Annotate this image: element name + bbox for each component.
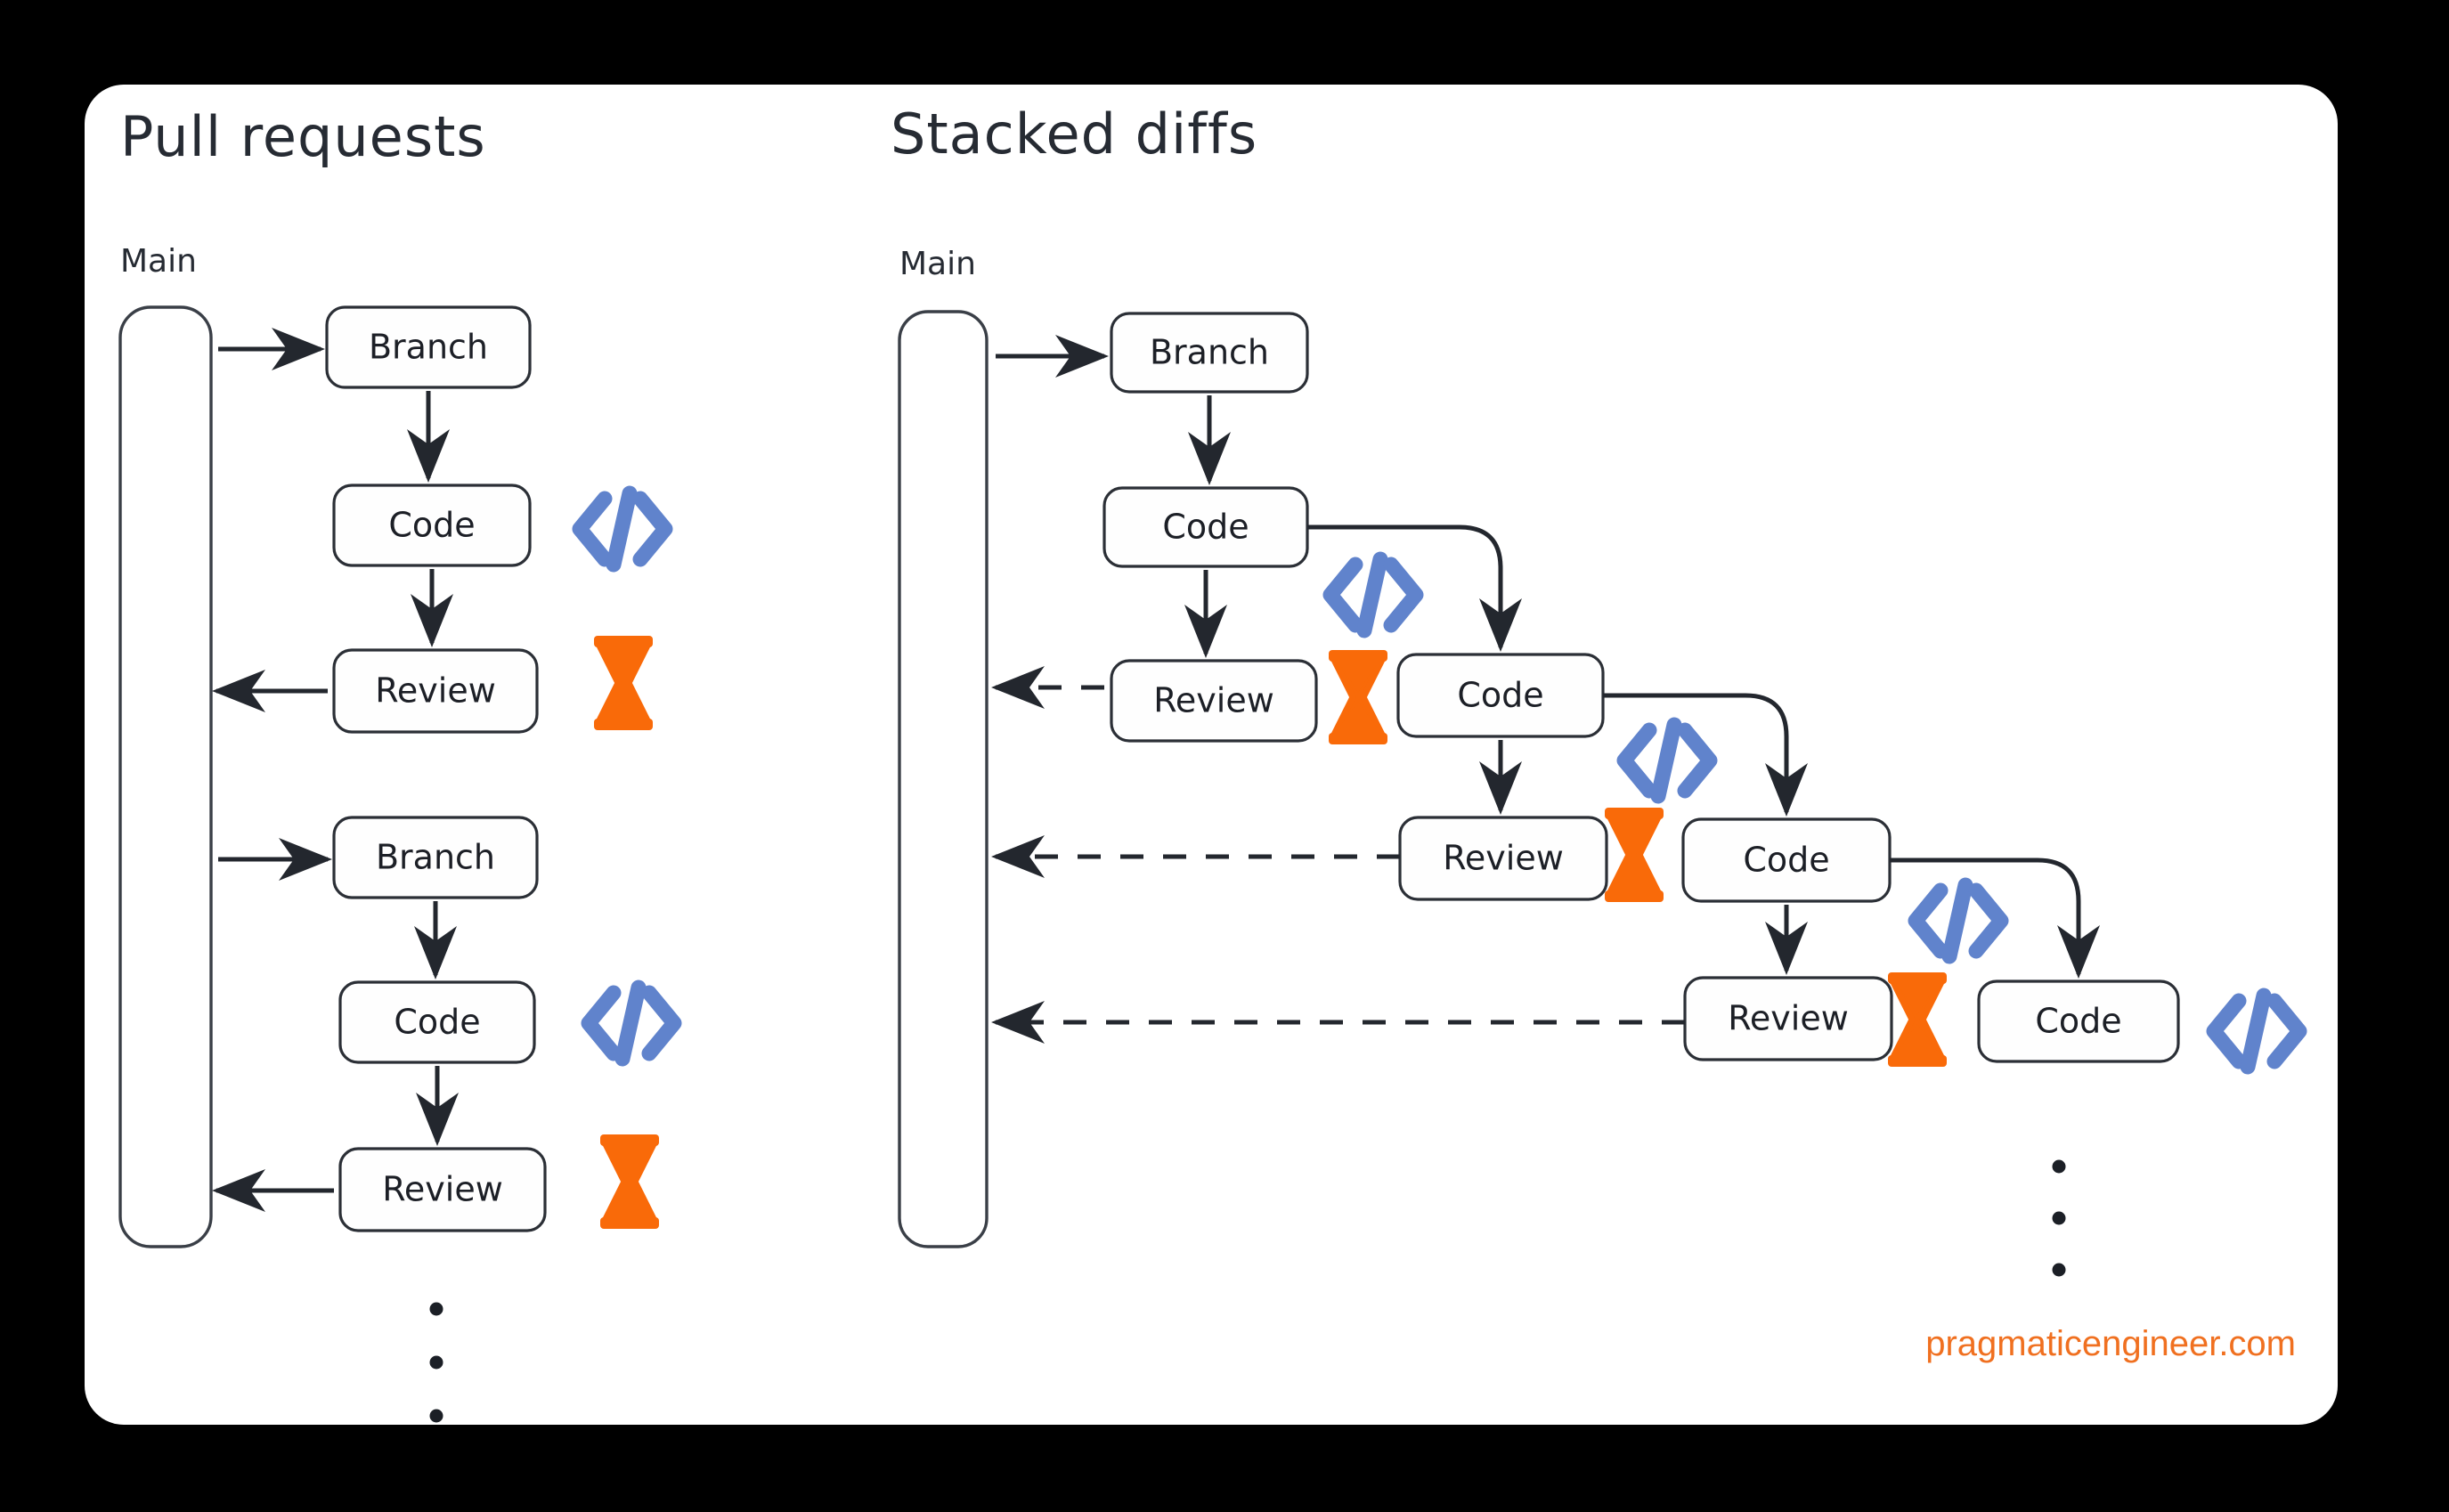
right-main-label: Main <box>899 246 976 282</box>
right-code-node-2-label: Code <box>1743 841 1829 880</box>
left-main-label: Main <box>120 243 197 280</box>
right-ellipsis-dot-1 <box>2053 1212 2066 1225</box>
left-review-node-1-label: Review <box>382 1170 503 1209</box>
left-branch-node-0-label: Branch <box>369 328 488 367</box>
right-code-brackets-icon-2 <box>1916 885 2001 956</box>
right-hourglass-icon-0 <box>1329 650 1387 744</box>
right-review-node-2-label: Review <box>1728 999 1849 1038</box>
left-code-node-0-label: Code <box>388 506 475 545</box>
left-hourglass-icon-1 <box>600 1134 659 1229</box>
left-main-trunk <box>120 307 211 1247</box>
left-ellipsis-dot-2 <box>430 1410 443 1423</box>
left-panel-title: Pull requests <box>120 104 486 169</box>
left-hourglass-icon-0 <box>594 636 653 730</box>
right-code-node-3-label: Code <box>2035 1002 2121 1041</box>
left-code-brackets-icon-0 <box>580 493 665 565</box>
left-code-brackets-icon-1 <box>589 988 674 1059</box>
right-review-node-1-label: Review <box>1443 839 1564 878</box>
right-code-brackets-icon-1 <box>1624 725 1710 796</box>
right-code-brackets-icon-3 <box>2214 996 2299 1067</box>
right-branch-node-label: Branch <box>1150 333 1269 372</box>
right-code-node-1-label: Code <box>1457 676 1543 715</box>
right-review-node-0-label: Review <box>1153 681 1274 720</box>
left-ellipsis-dot-1 <box>430 1356 443 1370</box>
left-review-node-0-label: Review <box>375 671 496 711</box>
stacked-diffs-diagram: Pull requestsMainBranchCodeReviewBranchC… <box>0 0 2449 1512</box>
left-ellipsis-dot-0 <box>430 1303 443 1316</box>
right-code-brackets-icon-0 <box>1330 559 1416 630</box>
right-ellipsis-dot-2 <box>2053 1264 2066 1277</box>
right-code-node-0-label: Code <box>1162 508 1249 547</box>
screenshot-stage: Pull requestsMainBranchCodeReviewBranchC… <box>0 0 2449 1512</box>
right-hourglass-icon-1 <box>1605 808 1664 902</box>
watermark-label: pragmaticengineer.com <box>1925 1324 2296 1363</box>
right-panel-title: Stacked diffs <box>891 102 1257 167</box>
right-main-trunk <box>899 312 987 1247</box>
right-hourglass-icon-2 <box>1888 972 1947 1067</box>
right-ellipsis-dot-0 <box>2053 1160 2066 1174</box>
left-branch-node-1-label: Branch <box>376 838 495 877</box>
left-code-node-1-label: Code <box>394 1003 480 1042</box>
